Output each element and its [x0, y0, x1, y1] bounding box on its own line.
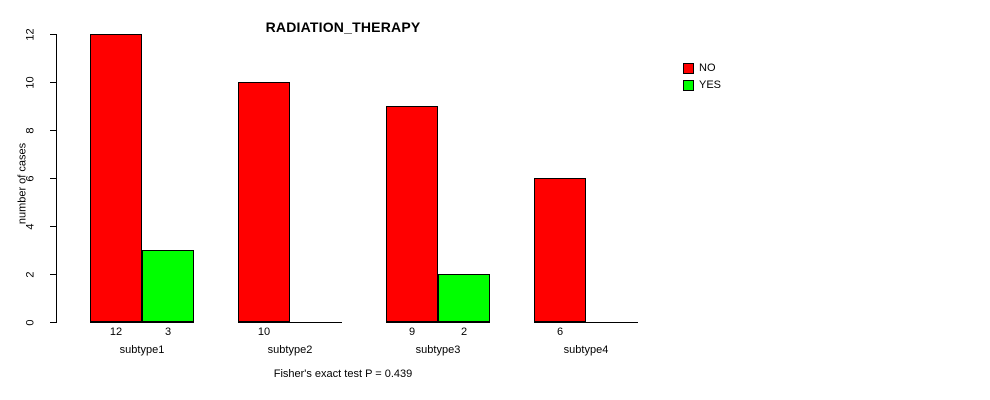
y-axis-tick — [50, 322, 56, 323]
y-axis-tick-label: 2 — [26, 258, 37, 292]
legend-item-label: YES — [699, 80, 721, 91]
legend-swatch-icon — [683, 80, 694, 91]
y-axis-tick — [50, 226, 56, 227]
y-axis-tick — [50, 82, 56, 83]
group-baseline — [534, 322, 638, 323]
bar-value-label: 6 — [534, 327, 586, 338]
y-axis-tick-label: 10 — [26, 66, 37, 100]
y-axis-tick — [50, 34, 56, 35]
legend-item-label: NO — [699, 63, 716, 74]
legend-item[interactable]: NO — [683, 61, 721, 76]
bar-value-label: 12 — [90, 327, 142, 338]
chart-title-text: RADIATION_THERAPY — [266, 19, 421, 35]
group-baseline — [386, 322, 490, 323]
x-axis-group-label: subtype2 — [238, 345, 342, 356]
x-axis-group-label: subtype1 — [90, 345, 194, 356]
bar — [386, 106, 438, 322]
y-axis-tick — [50, 178, 56, 179]
y-axis-tick — [50, 130, 56, 131]
chart-legend: NOYES — [683, 61, 721, 95]
bar — [238, 82, 290, 322]
bar-value-label: 10 — [238, 327, 290, 338]
x-axis-group-label: subtype3 — [386, 345, 490, 356]
y-axis-tick-label: 12 — [26, 18, 37, 52]
bar-value-label: 2 — [438, 327, 490, 338]
bar-value-label: 9 — [386, 327, 438, 338]
y-axis-tick-label: 0 — [26, 306, 37, 340]
y-axis-title: number of cases — [18, 124, 29, 244]
bar — [438, 274, 490, 322]
y-axis-line — [56, 34, 57, 323]
bar-value-label: 3 — [142, 327, 194, 338]
legend-item[interactable]: YES — [683, 78, 721, 93]
group-baseline — [238, 322, 342, 323]
footer-annotation: Fisher's exact test P = 0.439 — [0, 368, 990, 380]
group-baseline — [90, 322, 194, 323]
bar — [142, 250, 194, 322]
footer-annotation-text: Fisher's exact test P = 0.439 — [274, 368, 413, 380]
bar — [534, 178, 586, 322]
bar — [90, 34, 142, 322]
bar-chart-plot: RADIATION_THERAPY 024681012 number of ca… — [0, 0, 990, 400]
x-axis-group-label: subtype4 — [534, 345, 638, 356]
y-axis-tick — [50, 274, 56, 275]
chart-title: RADIATION_THERAPY — [0, 19, 990, 35]
legend-swatch-icon — [683, 63, 694, 74]
